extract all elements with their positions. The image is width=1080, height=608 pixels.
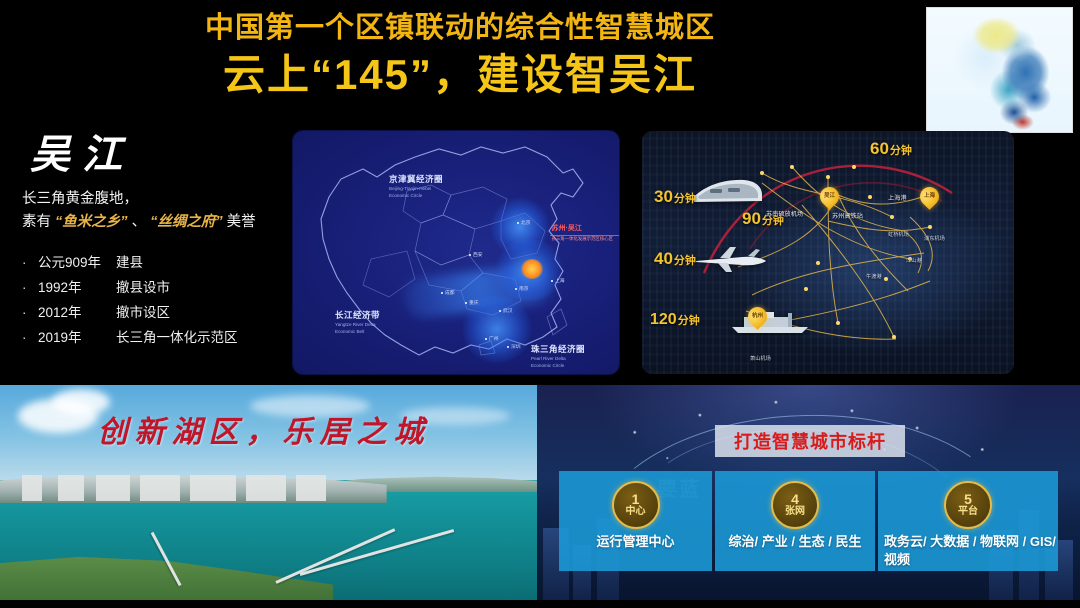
sidebar: 吴江 长三角黄金腹地， 素有 “鱼米之乡” 、 “丝绸之府” 美誉 · 公元90… [22, 130, 287, 366]
card-number: 1 [632, 492, 640, 506]
card-caption: 综治/ 产业 / 生态 / 民生 [715, 533, 875, 551]
china-economic-zones-map: 京津冀经济圈 Beijing-Tianjin-Hebei Economic Ci… [293, 131, 619, 374]
map-pin-hangzhou[interactable]: 杭州 [748, 307, 767, 333]
time-unit: 分钟 [674, 193, 696, 205]
list-item: · 2012年 撤市设区 [22, 300, 287, 325]
building-cluster [246, 475, 286, 501]
smart-city-cards: 1 中心 运行管理中心 4 张网 综治/ 产业 / 生态 / 民生 5 平台 政… [559, 471, 1059, 571]
airplane-icon [690, 243, 770, 275]
list-item: · 公元909年 建县 [22, 250, 287, 275]
lead-suffix: 美誉 [227, 214, 256, 230]
timeline-event: 撤县设市 [116, 275, 170, 300]
card-caption: 政务云/ 大数据 / 物联网 / GIS/ 视频 [878, 533, 1058, 569]
sidebar-lead-line2: 素有 “鱼米之乡” 、 “丝绸之府” 美誉 [22, 211, 287, 234]
card-unit: 平台 [958, 506, 978, 518]
highlight-fish-rice: “鱼米之乡” [55, 214, 128, 230]
time-unit: 分钟 [890, 145, 912, 157]
coin-badge-icon: 1 中心 [612, 481, 660, 529]
title-main-line: 云上“145”，建设智吴江 [0, 48, 920, 102]
zone-label-en1: Yangtze River Delta [335, 322, 380, 328]
callout-rule [550, 235, 619, 236]
timeline-event: 长三角一体化示范区 [116, 325, 238, 350]
timeline-event: 撤市设区 [116, 300, 170, 325]
zone-label-cn: 珠三角经济圈 [531, 343, 585, 355]
slide-root: 中国第一个区镇联动的综合性智慧城区 云上“145”，建设智吴江 吴江 长三角黄金… [0, 0, 1080, 608]
time-value: 40 [654, 249, 673, 268]
card-four-networks[interactable]: 4 张网 综治/ 产业 / 生态 / 民生 [715, 471, 875, 571]
card-number: 4 [791, 492, 799, 506]
time-value: 30 [654, 187, 673, 206]
transport-accessibility-map: 60分钟 90分钟 30分钟 40分钟 120分钟 吴江 上海 杭州 苏南硕放机… [642, 131, 1014, 374]
city-label-shanghai: 上海 [551, 277, 565, 284]
coin-badge-icon: 4 张网 [771, 481, 819, 529]
building-cluster [296, 475, 326, 501]
timeline-event: 建县 [116, 250, 143, 275]
timeline-year: 2012年 [38, 300, 116, 325]
card-number: 5 [964, 492, 972, 506]
place-label-sunan-airport: 苏南硕放机场 [766, 209, 803, 218]
sidebar-lead-line1: 长三角黄金腹地， [22, 188, 287, 211]
place-label-yangshan-port: 洋山港 [906, 257, 922, 264]
building-cluster [22, 475, 42, 501]
zone-label-en1: Pearl River Delta [531, 356, 585, 362]
smart-city-panel: 要蓝 打造智慧城市标杆 1 中心 运行管理中心 4 张网 综治/ 产业 / 生态… [537, 385, 1080, 600]
coin-badge-icon: 5 平台 [944, 481, 992, 529]
city-label-chengdu: 成都 [441, 289, 455, 296]
wujiang-hotspot [521, 259, 543, 279]
building-cluster [96, 475, 130, 501]
time-value: 120 [650, 311, 677, 328]
page-title: 中国第一个区镇联动的综合性智慧城区 云上“145”，建设智吴江 [0, 8, 920, 102]
map-pin-shanghai[interactable]: 上海 [920, 187, 939, 213]
time-label-60: 60分钟 [870, 139, 912, 159]
ship-icon [728, 309, 812, 335]
place-label-xiaoshan-airport: 萧山机场 [750, 355, 771, 362]
city-label-guangzhou: 广州 [485, 335, 499, 342]
time-label-30: 30分钟 [654, 187, 696, 207]
city-label-nanjing: 南京 [515, 285, 529, 292]
highlight-silk: “丝绸之府” [150, 214, 223, 230]
zone-label-en2: Economic Belt [335, 329, 380, 335]
map-pin-wujiang[interactable]: 吴江 [820, 187, 839, 213]
lead-prefix: 素有 [22, 214, 51, 230]
timeline-year: 1992年 [38, 275, 116, 300]
wujiang-watercolor-map-thumbnail [926, 7, 1073, 133]
smart-city-heading-text: 打造智慧城市标杆 [734, 428, 886, 454]
time-unit: 分钟 [678, 315, 700, 327]
place-label-suzhou-hsr: 苏州高铁站 [832, 211, 863, 220]
building-cluster [190, 475, 236, 501]
city-label-chongqing: 重庆 [465, 299, 479, 306]
zone-label-en2: Economic Circle [389, 193, 443, 199]
zone-label-pearl: 珠三角经济圈 Pearl River Delta Economic Circle [531, 343, 585, 369]
city-label-beijing: 北京 [517, 219, 531, 226]
place-label-shanghai-port: 上海港 [888, 193, 907, 202]
timeline-year: 公元909年 [38, 250, 116, 275]
place-label-niudu-port: 牛渡港 [866, 273, 882, 280]
wujiang-callout: 苏州·吴江 长三角一体化发展示范区核心区 [552, 223, 613, 242]
timeline-year: 2019年 [38, 325, 116, 350]
wujiang-aerial-photo: 创新湖区，乐居之城 [0, 385, 537, 600]
sidebar-heading: 吴江 [30, 130, 287, 180]
card-unit: 中心 [626, 506, 646, 518]
bullet-dot-icon: · [22, 325, 38, 350]
building-cluster [140, 475, 180, 501]
sidebar-lead: 长三角黄金腹地， 素有 “鱼米之乡” 、 “丝绸之府” 美誉 [22, 188, 287, 234]
card-unit: 张网 [785, 506, 805, 518]
time-label-40: 40分钟 [654, 249, 696, 269]
sidebar-timeline-list: · 公元909年 建县 · 1992年 撤县设市 · 2012年 撤市设区 · … [22, 250, 287, 350]
zone-label-jingjinji: 京津冀经济圈 Beijing-Tianjin-Hebei Economic Ci… [389, 173, 443, 199]
city-label-shenzhen: 深圳 [507, 343, 521, 350]
photo-slogan: 创新湖区，乐居之城 [44, 407, 484, 451]
bullet-dot-icon: · [22, 300, 38, 325]
pin-label: 上海 [920, 191, 939, 199]
zone-label-yangtze: 长江经济带 Yangtze River Delta Economic Belt [335, 309, 380, 335]
callout-subtitle: 长三角一体化发展示范区核心区 [552, 236, 613, 242]
place-label-pudong-airport: 浦东机场 [924, 235, 945, 242]
time-value: 90 [742, 209, 761, 228]
zone-label-cn: 长江经济带 [335, 309, 380, 321]
pin-label: 吴江 [820, 191, 839, 199]
high-speed-train-icon [688, 177, 764, 207]
lead-mid: 、 [132, 214, 147, 230]
smart-city-heading: 打造智慧城市标杆 [715, 425, 905, 457]
title-subtitle-line: 中国第一个区镇联动的综合性智慧城区 [0, 8, 920, 48]
watercolor-map-icon [927, 8, 1072, 132]
bullet-dot-icon: · [22, 250, 38, 275]
card-one-center[interactable]: 1 中心 运行管理中心 [559, 471, 712, 571]
zone-label-en2: Economic Circle [531, 363, 585, 369]
callout-title: 苏州·吴江 [552, 223, 613, 233]
time-unit: 分钟 [674, 255, 696, 267]
card-caption: 运行管理中心 [559, 533, 712, 551]
building-cluster [58, 475, 84, 501]
list-item: · 2019年 长三角一体化示范区 [22, 325, 287, 350]
place-label-hongqiao-airport: 虹桥机场 [888, 231, 909, 238]
time-label-120: 120分钟 [650, 311, 700, 329]
zone-label-en1: Beijing-Tianjin-Hebei [389, 186, 443, 192]
bullet-dot-icon: · [22, 275, 38, 300]
city-label-wuhan: 武汉 [499, 307, 513, 314]
zone-label-cn: 京津冀经济圈 [389, 173, 443, 185]
pin-label: 杭州 [748, 311, 767, 319]
city-label-xian: 西安 [469, 251, 483, 258]
list-item: · 1992年 撤县设市 [22, 275, 287, 300]
time-value: 60 [870, 139, 889, 158]
card-five-platforms[interactable]: 5 平台 政务云/ 大数据 / 物联网 / GIS/ 视频 [878, 471, 1058, 571]
